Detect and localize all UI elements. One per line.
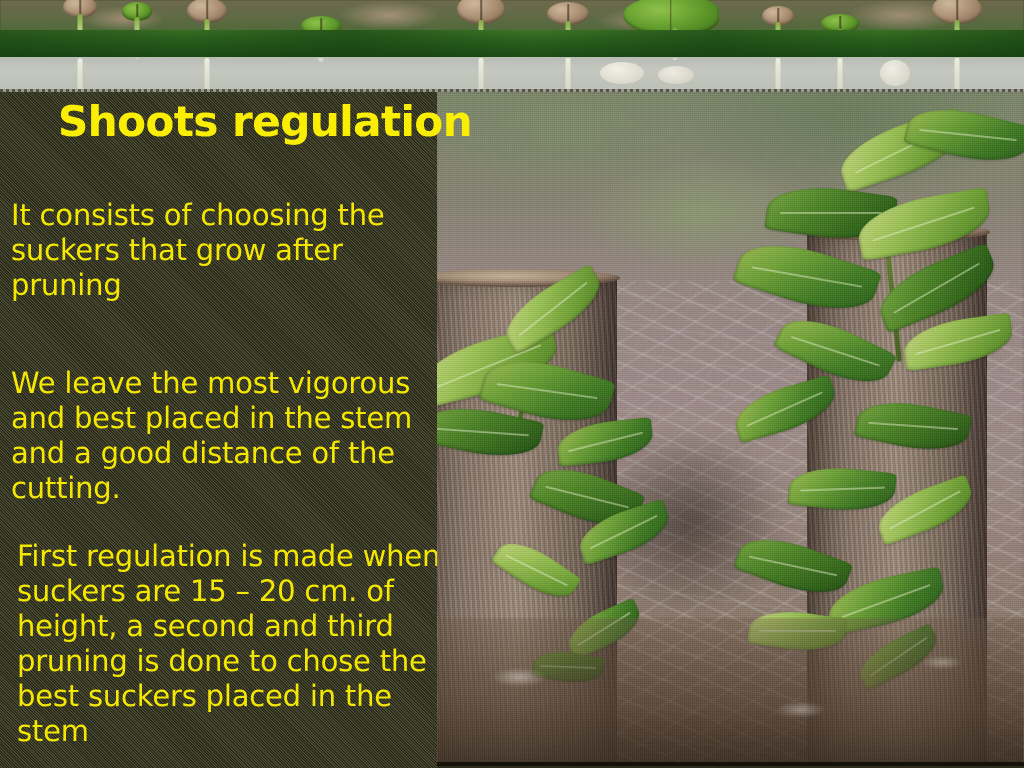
body-paragraph-3: First regulation is made when suckers ar… — [17, 539, 437, 749]
page-title: Shoots regulation — [58, 100, 437, 144]
text-panel: Shoots regulation It consists of choosin… — [0, 92, 437, 768]
body-paragraph-2: We leave the most vigorous and best plac… — [11, 366, 437, 506]
banner-radicle — [760, 58, 796, 92]
banner-radicle — [60, 58, 100, 92]
banner-radicle — [455, 58, 507, 92]
banner-seed — [600, 62, 644, 84]
banner-green-band — [0, 30, 1024, 58]
banner-image-germinating-seeds — [0, 0, 1024, 92]
banner-radicle — [930, 58, 984, 92]
photo-bottom-edge — [437, 762, 1024, 766]
slide-canvas: Shoots regulation It consists of choosin… — [0, 0, 1024, 768]
banner-ground-band — [0, 57, 1024, 92]
photo-coffee-stumps-with-shoots — [437, 92, 1024, 766]
banner-seed — [880, 60, 910, 86]
banner-radicle — [820, 58, 860, 92]
body-paragraph-1: It consists of choosing the suckers that… — [11, 198, 437, 303]
banner-radicle — [545, 58, 591, 92]
photo-ground-soil — [437, 618, 1024, 766]
banner-radicle — [185, 58, 229, 92]
banner-seed — [658, 66, 694, 84]
